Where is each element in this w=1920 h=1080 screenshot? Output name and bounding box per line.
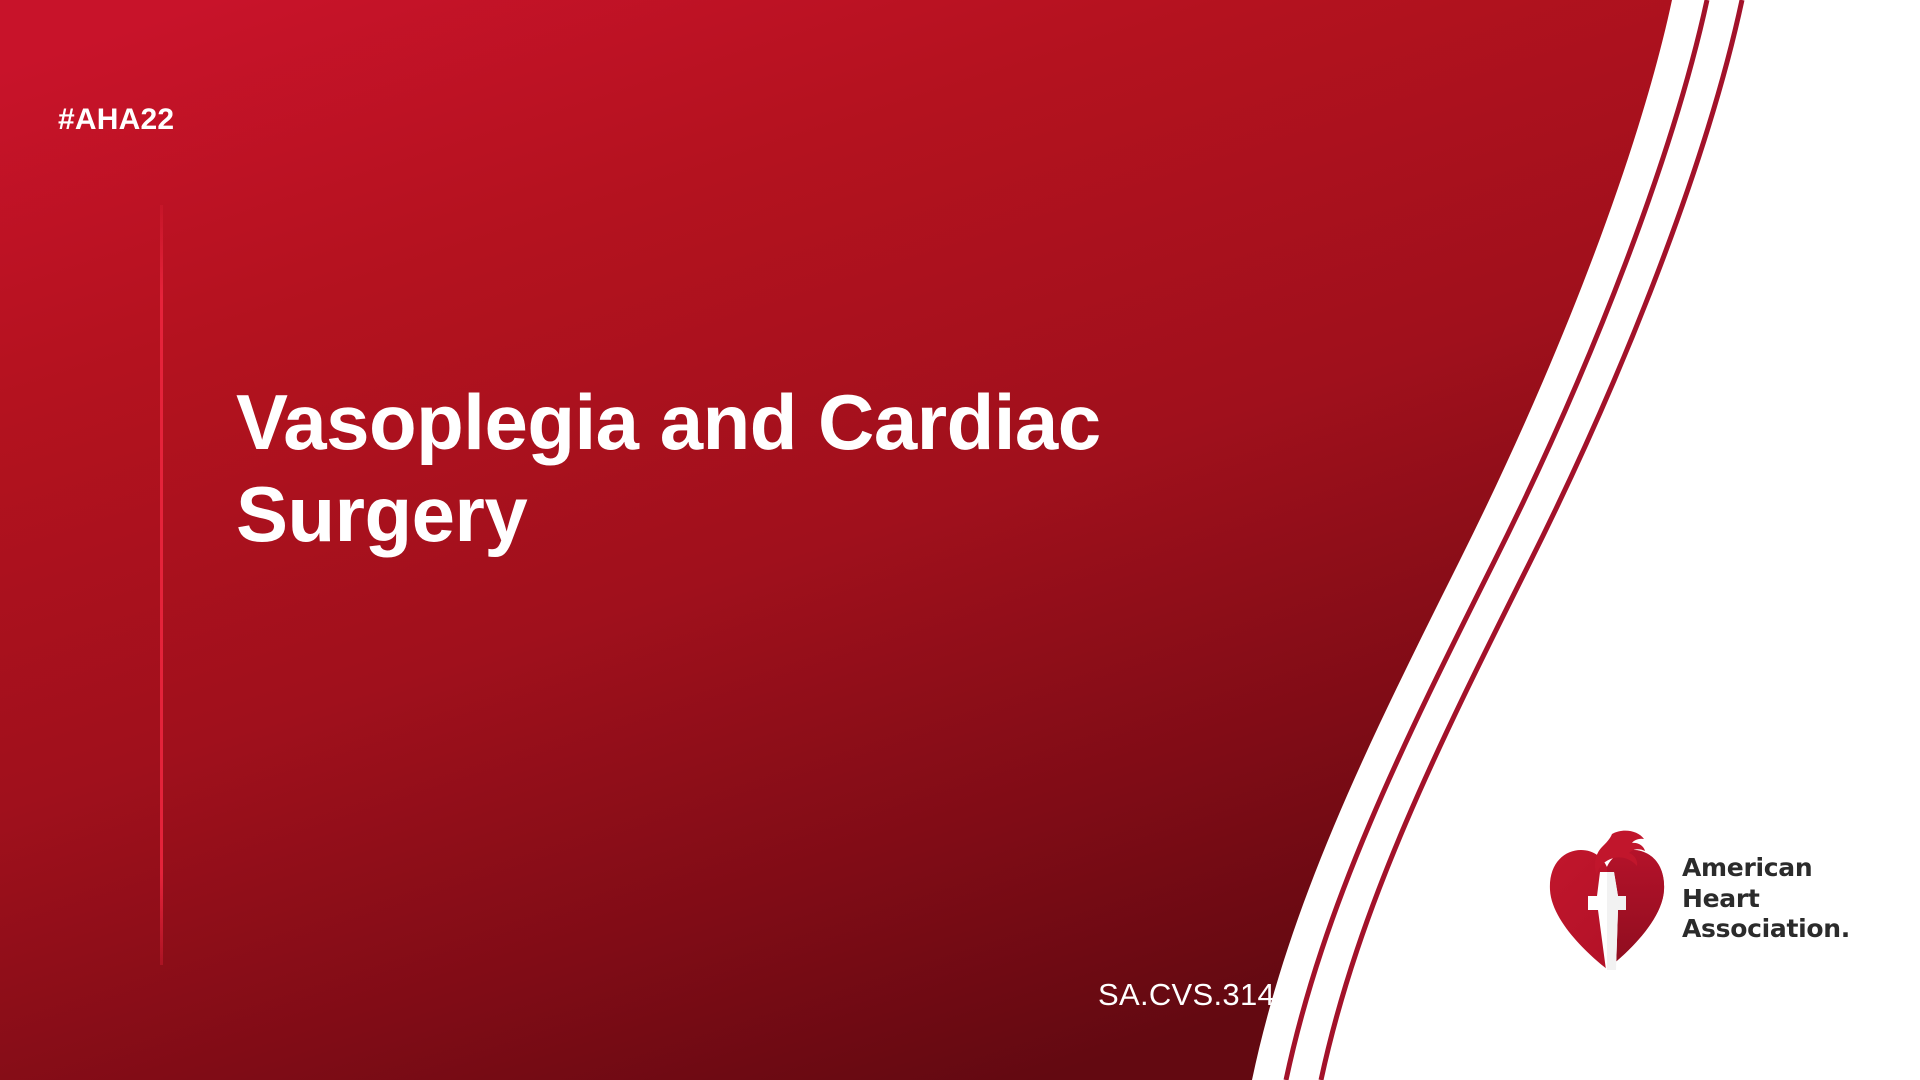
wordmark-line-2: Heart	[1682, 884, 1850, 915]
heart-with-torch-icon	[1548, 828, 1666, 970]
event-hashtag: #AHA22	[58, 103, 174, 137]
presentation-title-slide: #AHA22 Vasoplegia and Cardiac Surgery SA…	[0, 0, 1920, 1080]
vertical-accent-rule	[160, 205, 163, 965]
page-title-line-1: Vasoplegia and Cardiac	[236, 377, 1296, 468]
american-heart-association-logo: American Heart Association.	[1548, 824, 1868, 974]
aha-wordmark: American Heart Association.	[1682, 853, 1850, 945]
session-code: SA.CVS.314	[1098, 977, 1275, 1013]
wordmark-line-3: Association.	[1682, 914, 1850, 945]
page-title-line-2: Surgery	[236, 469, 1296, 560]
wordmark-line-1: American	[1682, 853, 1850, 884]
page-title: Vasoplegia and Cardiac Surgery	[236, 377, 1296, 560]
